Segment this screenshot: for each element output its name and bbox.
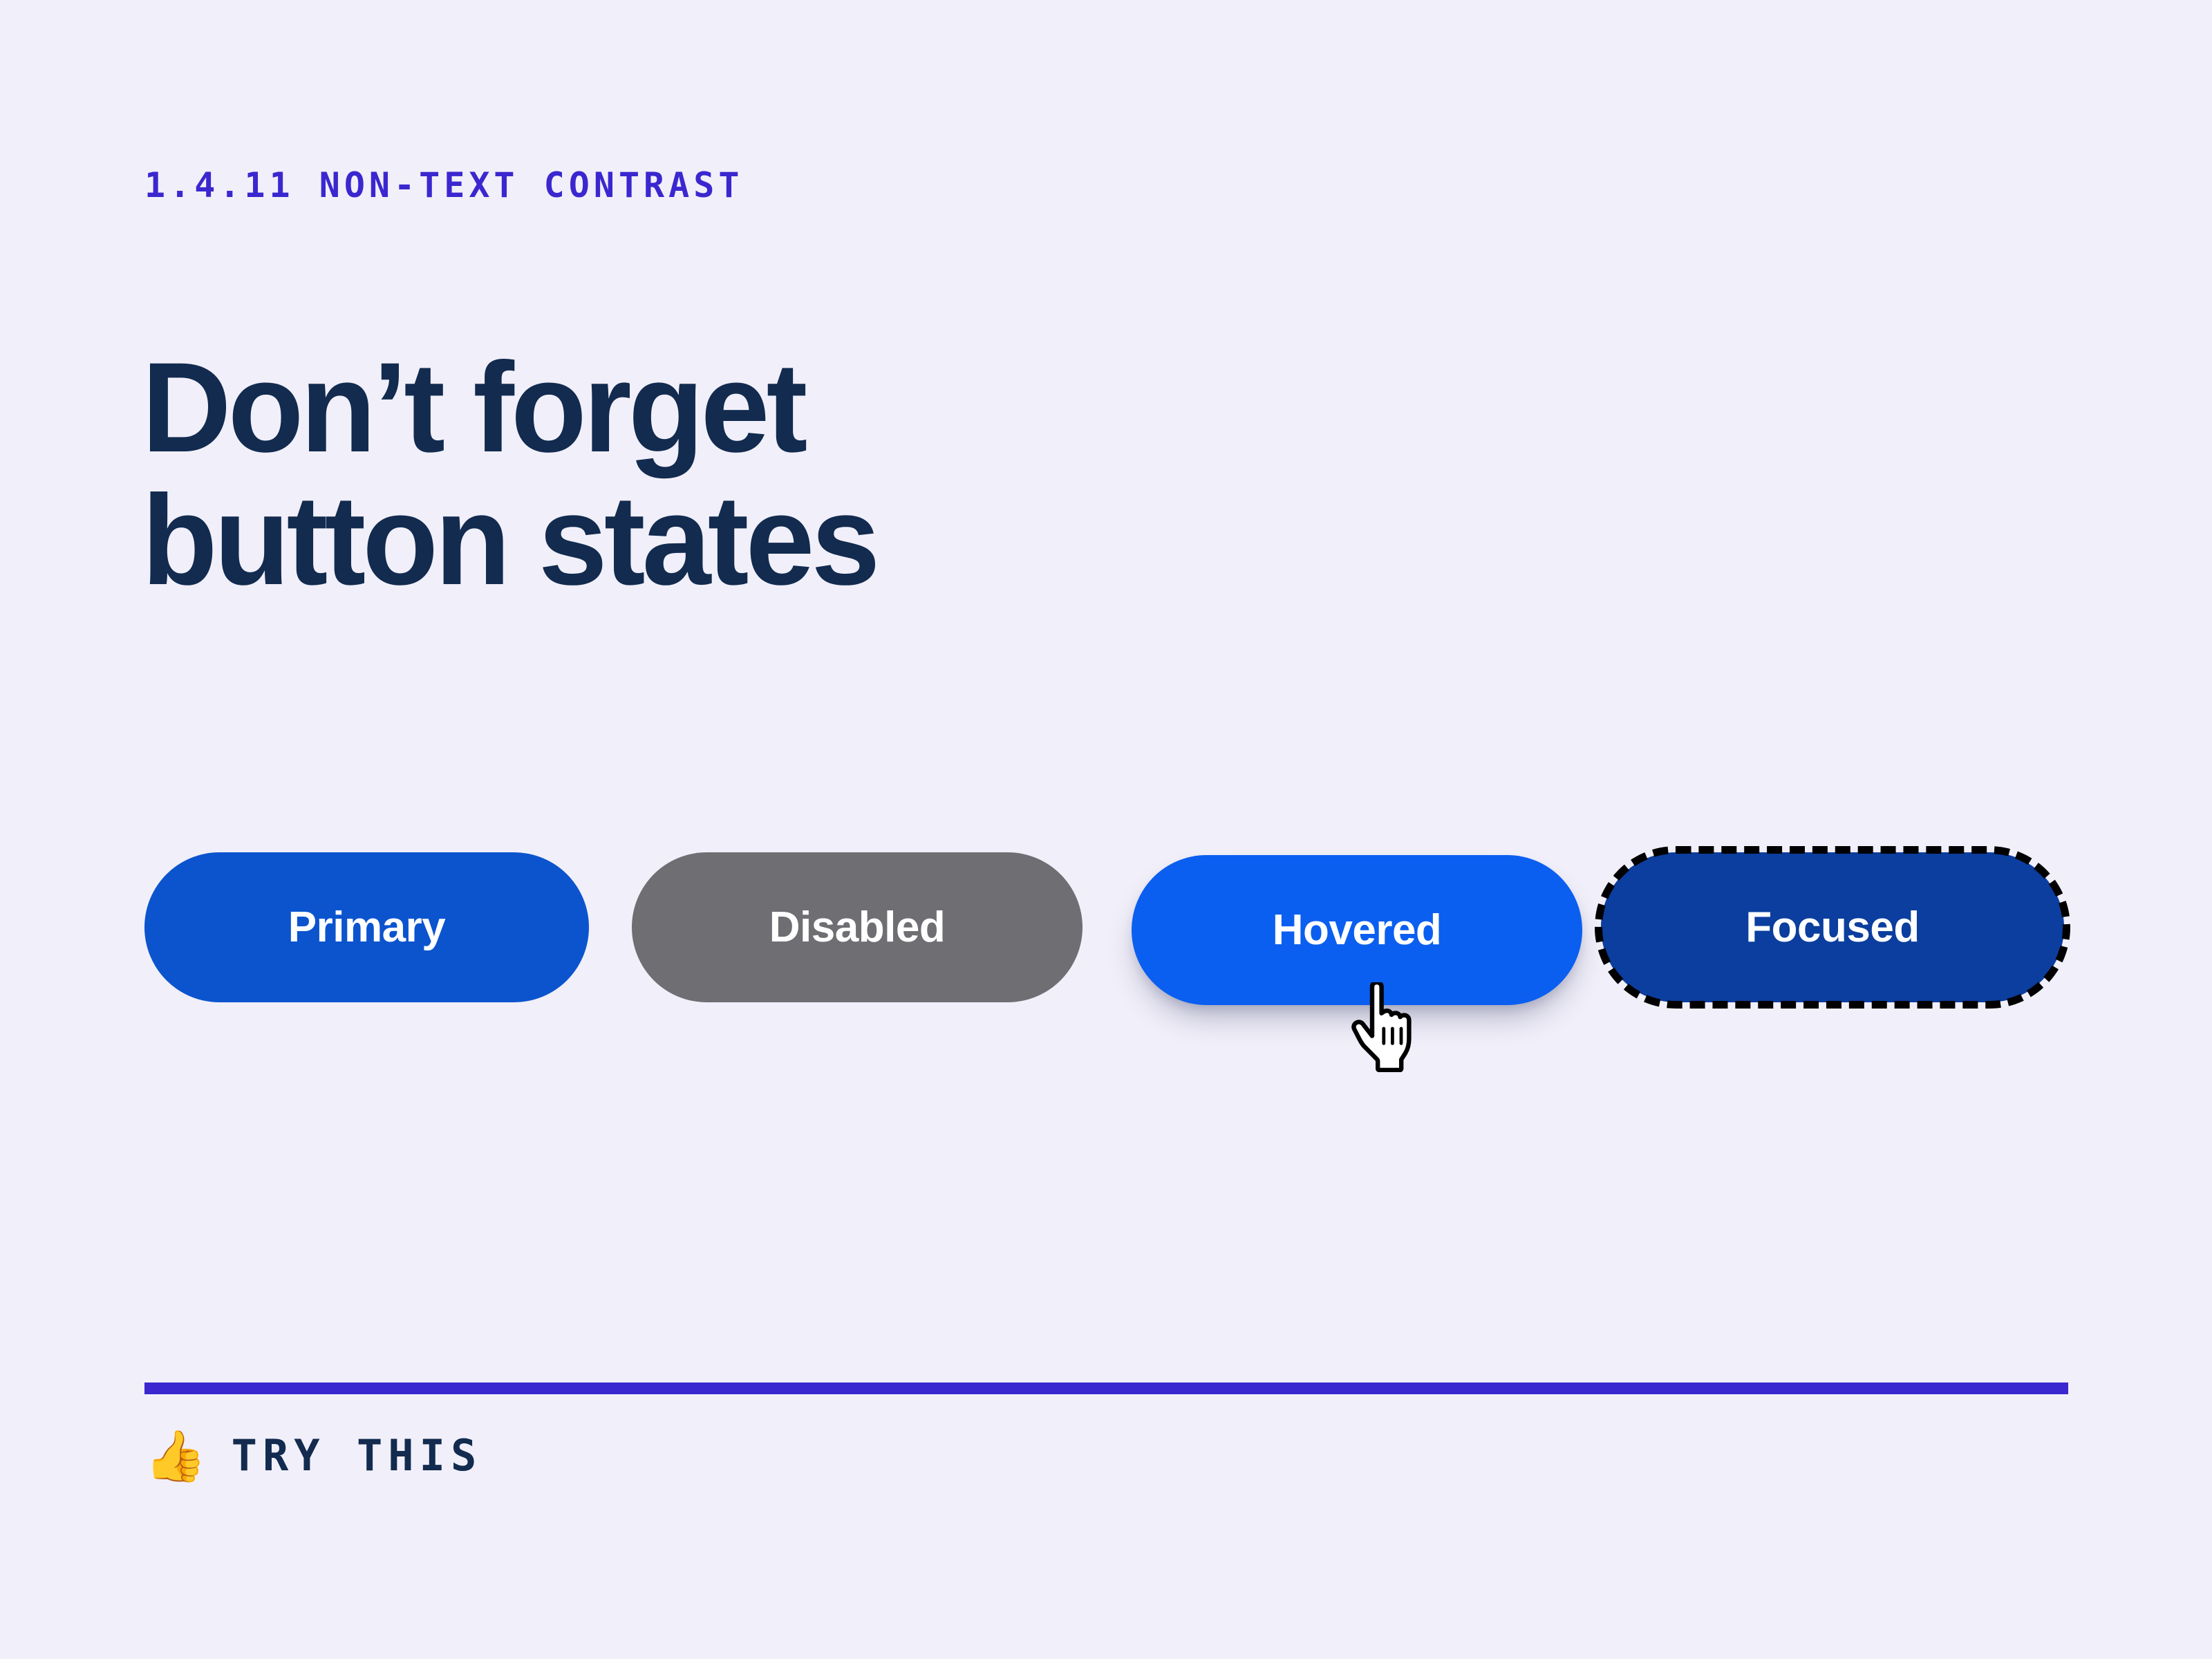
button-states-row: Primary Disabled Hovered Focused bbox=[144, 852, 2073, 1018]
disabled-button: Disabled bbox=[632, 852, 1082, 1002]
page-title: Don’t forget button states bbox=[142, 341, 877, 608]
footer-callout: 👍 TRY THIS bbox=[144, 1431, 482, 1481]
page-title-line-2: button states bbox=[142, 474, 877, 607]
primary-button[interactable]: Primary bbox=[144, 852, 589, 1002]
slide-canvas: 1.4.11 NON-TEXT CONTRAST Don’t forget bu… bbox=[0, 0, 2212, 1659]
page-title-line-1: Don’t forget bbox=[142, 341, 877, 474]
hovered-button[interactable]: Hovered bbox=[1132, 855, 1582, 1005]
focused-button[interactable]: Focused bbox=[1601, 852, 2064, 1002]
eyebrow-criterion-label: 1.4.11 NON-TEXT CONTRAST bbox=[144, 168, 743, 203]
section-divider bbox=[144, 1382, 2068, 1394]
thumbs-up-icon: 👍 bbox=[144, 1431, 207, 1481]
try-this-label: TRY THIS bbox=[232, 1434, 482, 1477]
